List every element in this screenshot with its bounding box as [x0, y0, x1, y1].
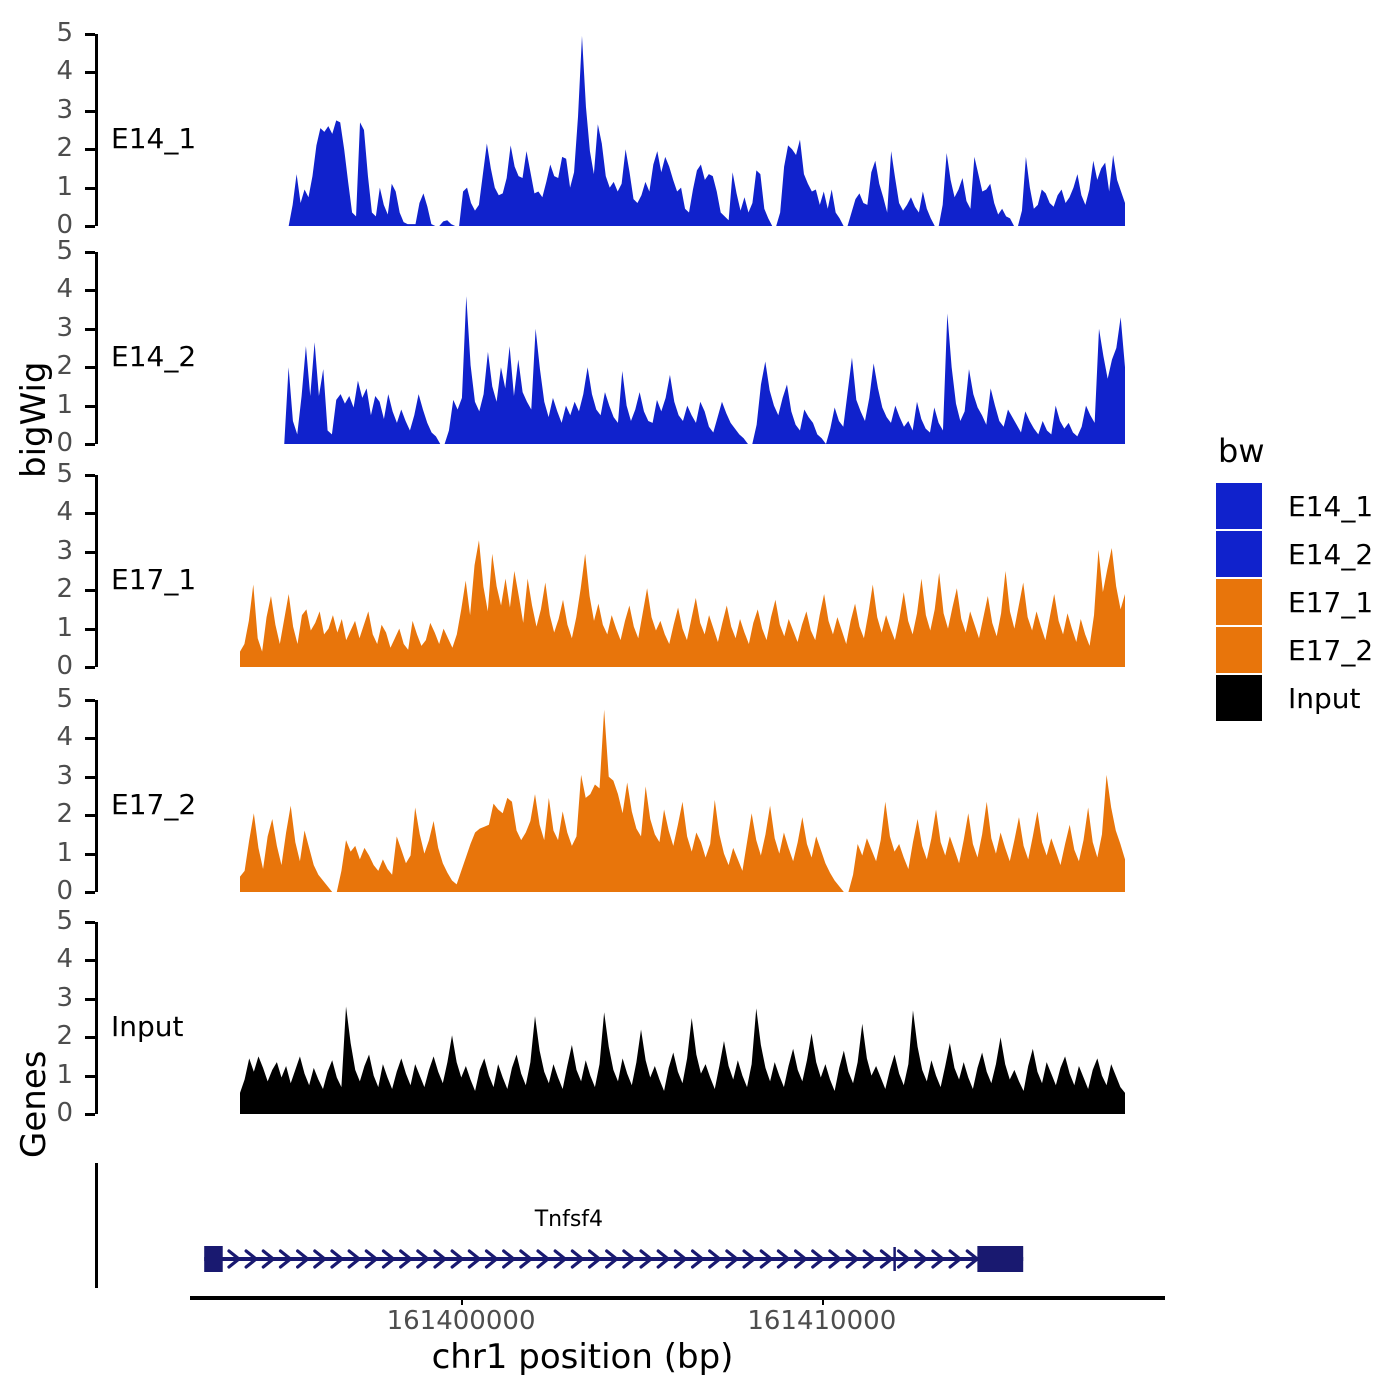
legend-item-e17_2[interactable]: E17_2: [1216, 626, 1373, 674]
track-area-e17_2[interactable]: [240, 700, 1125, 892]
y-tick-label: 4: [33, 946, 73, 972]
y-tick-mark: [85, 148, 95, 151]
legend-items: E14_1E14_2E17_1E17_2Input: [1216, 482, 1373, 722]
y-axis-line: [95, 34, 98, 226]
legend-label: Input: [1288, 682, 1361, 715]
y-tick-mark: [85, 366, 95, 369]
y-tick-label: 2: [33, 801, 73, 827]
y-tick-label: 0: [33, 430, 73, 456]
track-area-e14_1[interactable]: [240, 34, 1125, 226]
y-tick-label: 2: [33, 576, 73, 602]
x-axis-line: [190, 1296, 1165, 1300]
genes-panel: Tnfsf4: [95, 1163, 1140, 1288]
legend-key-swatch: [1216, 531, 1262, 577]
x-tick-label: 161400000: [387, 1306, 536, 1336]
y-tick-mark: [85, 891, 95, 894]
y-tick-label: 2: [33, 353, 73, 379]
legend-item-e17_1[interactable]: E17_1: [1216, 578, 1373, 626]
y-tick-mark: [85, 959, 95, 962]
y-tick-label: 1: [33, 615, 73, 641]
y-axis-line: [95, 700, 98, 892]
y-tick-label: 4: [33, 276, 73, 302]
y-tick-label: 1: [33, 840, 73, 866]
y-tick-label: 4: [33, 724, 73, 750]
track-label-input: Input: [111, 1010, 184, 1043]
y-tick-mark: [85, 776, 95, 779]
y-tick-mark: [85, 737, 95, 740]
y-tick-mark: [85, 33, 95, 36]
y-tick-mark: [85, 474, 95, 477]
y-tick-label: 1: [33, 174, 73, 200]
track-area-input[interactable]: [240, 922, 1125, 1114]
legend-key-swatch: [1216, 579, 1262, 625]
y-tick-mark: [85, 551, 95, 554]
y-tick-label: 2: [33, 1023, 73, 1049]
legend-title: bw: [1218, 432, 1373, 470]
x-tick-mark: [822, 1296, 824, 1305]
legend: bw E14_1E14_2E17_1E17_2Input: [1216, 432, 1373, 722]
y-tick-label: 1: [33, 392, 73, 418]
y-tick-label: 5: [33, 238, 73, 264]
y-tick-label: 5: [33, 686, 73, 712]
y-tick-label: 0: [33, 212, 73, 238]
legend-item-e14_2[interactable]: E14_2: [1216, 530, 1373, 578]
y-tick-mark: [85, 405, 95, 408]
y-tick-label: 3: [33, 97, 73, 123]
y-tick-label: 2: [33, 135, 73, 161]
y-tick-mark: [85, 853, 95, 856]
y-tick-label: 3: [33, 538, 73, 564]
y-tick-mark: [85, 289, 95, 292]
y-tick-mark: [85, 814, 95, 817]
legend-label: E17_1: [1288, 586, 1373, 619]
track-label-e14_1: E14_1: [111, 122, 196, 155]
legend-key-swatch: [1216, 675, 1262, 721]
track-label-e17_1: E17_1: [111, 563, 196, 596]
y-tick-mark: [85, 628, 95, 631]
y-tick-mark: [85, 666, 95, 669]
y-axis-line: [95, 922, 98, 1114]
legend-key-swatch: [1216, 627, 1262, 673]
genome-browser-figure: bigWig Genes 012345E14_1012345E14_201234…: [0, 0, 1400, 1400]
track-area-e14_2[interactable]: [240, 252, 1125, 444]
y-tick-mark: [85, 251, 95, 254]
y-tick-label: 0: [33, 1100, 73, 1126]
y-tick-mark: [85, 443, 95, 446]
panel-e14_1: 012345E14_1: [95, 34, 1140, 226]
y-tick-mark: [85, 110, 95, 113]
y-tick-label: 4: [33, 499, 73, 525]
y-tick-mark: [85, 187, 95, 190]
legend-item-input[interactable]: Input: [1216, 674, 1373, 722]
legend-label: E14_2: [1288, 538, 1373, 571]
y-tick-label: 0: [33, 653, 73, 679]
y-tick-label: 3: [33, 315, 73, 341]
y-tick-mark: [85, 328, 95, 331]
y-tick-mark: [85, 921, 95, 924]
y-tick-mark: [85, 225, 95, 228]
panel-e17_2: 012345E17_2: [95, 700, 1140, 892]
y-tick-label: 3: [33, 763, 73, 789]
y-tick-label: 4: [33, 58, 73, 84]
y-tick-label: 5: [33, 461, 73, 487]
legend-label: E17_2: [1288, 634, 1373, 667]
y-axis-line: [95, 252, 98, 444]
legend-item-e14_1[interactable]: E14_1: [1216, 482, 1373, 530]
y-tick-mark: [85, 998, 95, 1001]
y-tick-label: 5: [33, 908, 73, 934]
panel-e14_2: 012345E14_2: [95, 252, 1140, 444]
legend-key-swatch: [1216, 483, 1262, 529]
x-tick-mark: [461, 1296, 463, 1305]
y-tick-mark: [85, 1075, 95, 1078]
legend-label: E14_1: [1288, 490, 1373, 523]
y-tick-label: 5: [33, 20, 73, 46]
y-tick-mark: [85, 512, 95, 515]
y-axis-line: [95, 475, 98, 667]
panel-e17_1: 012345E17_1: [95, 475, 1140, 667]
track-area-e17_1[interactable]: [240, 475, 1125, 667]
panel-input: 012345Input: [95, 922, 1140, 1114]
track-label-e17_2: E17_2: [111, 788, 196, 821]
x-tick-label: 161410000: [747, 1306, 896, 1336]
y-tick-mark: [85, 1113, 95, 1116]
y-tick-label: 1: [33, 1062, 73, 1088]
y-tick-mark: [85, 71, 95, 74]
track-label-e14_2: E14_2: [111, 340, 196, 373]
y-tick-mark: [85, 699, 95, 702]
y-tick-mark: [85, 1036, 95, 1039]
gene-model[interactable]: [95, 1163, 1140, 1288]
x-axis-title: chr1 position (bp): [0, 1337, 1165, 1377]
y-tick-mark: [85, 589, 95, 592]
y-tick-label: 3: [33, 985, 73, 1011]
y-tick-label: 0: [33, 878, 73, 904]
